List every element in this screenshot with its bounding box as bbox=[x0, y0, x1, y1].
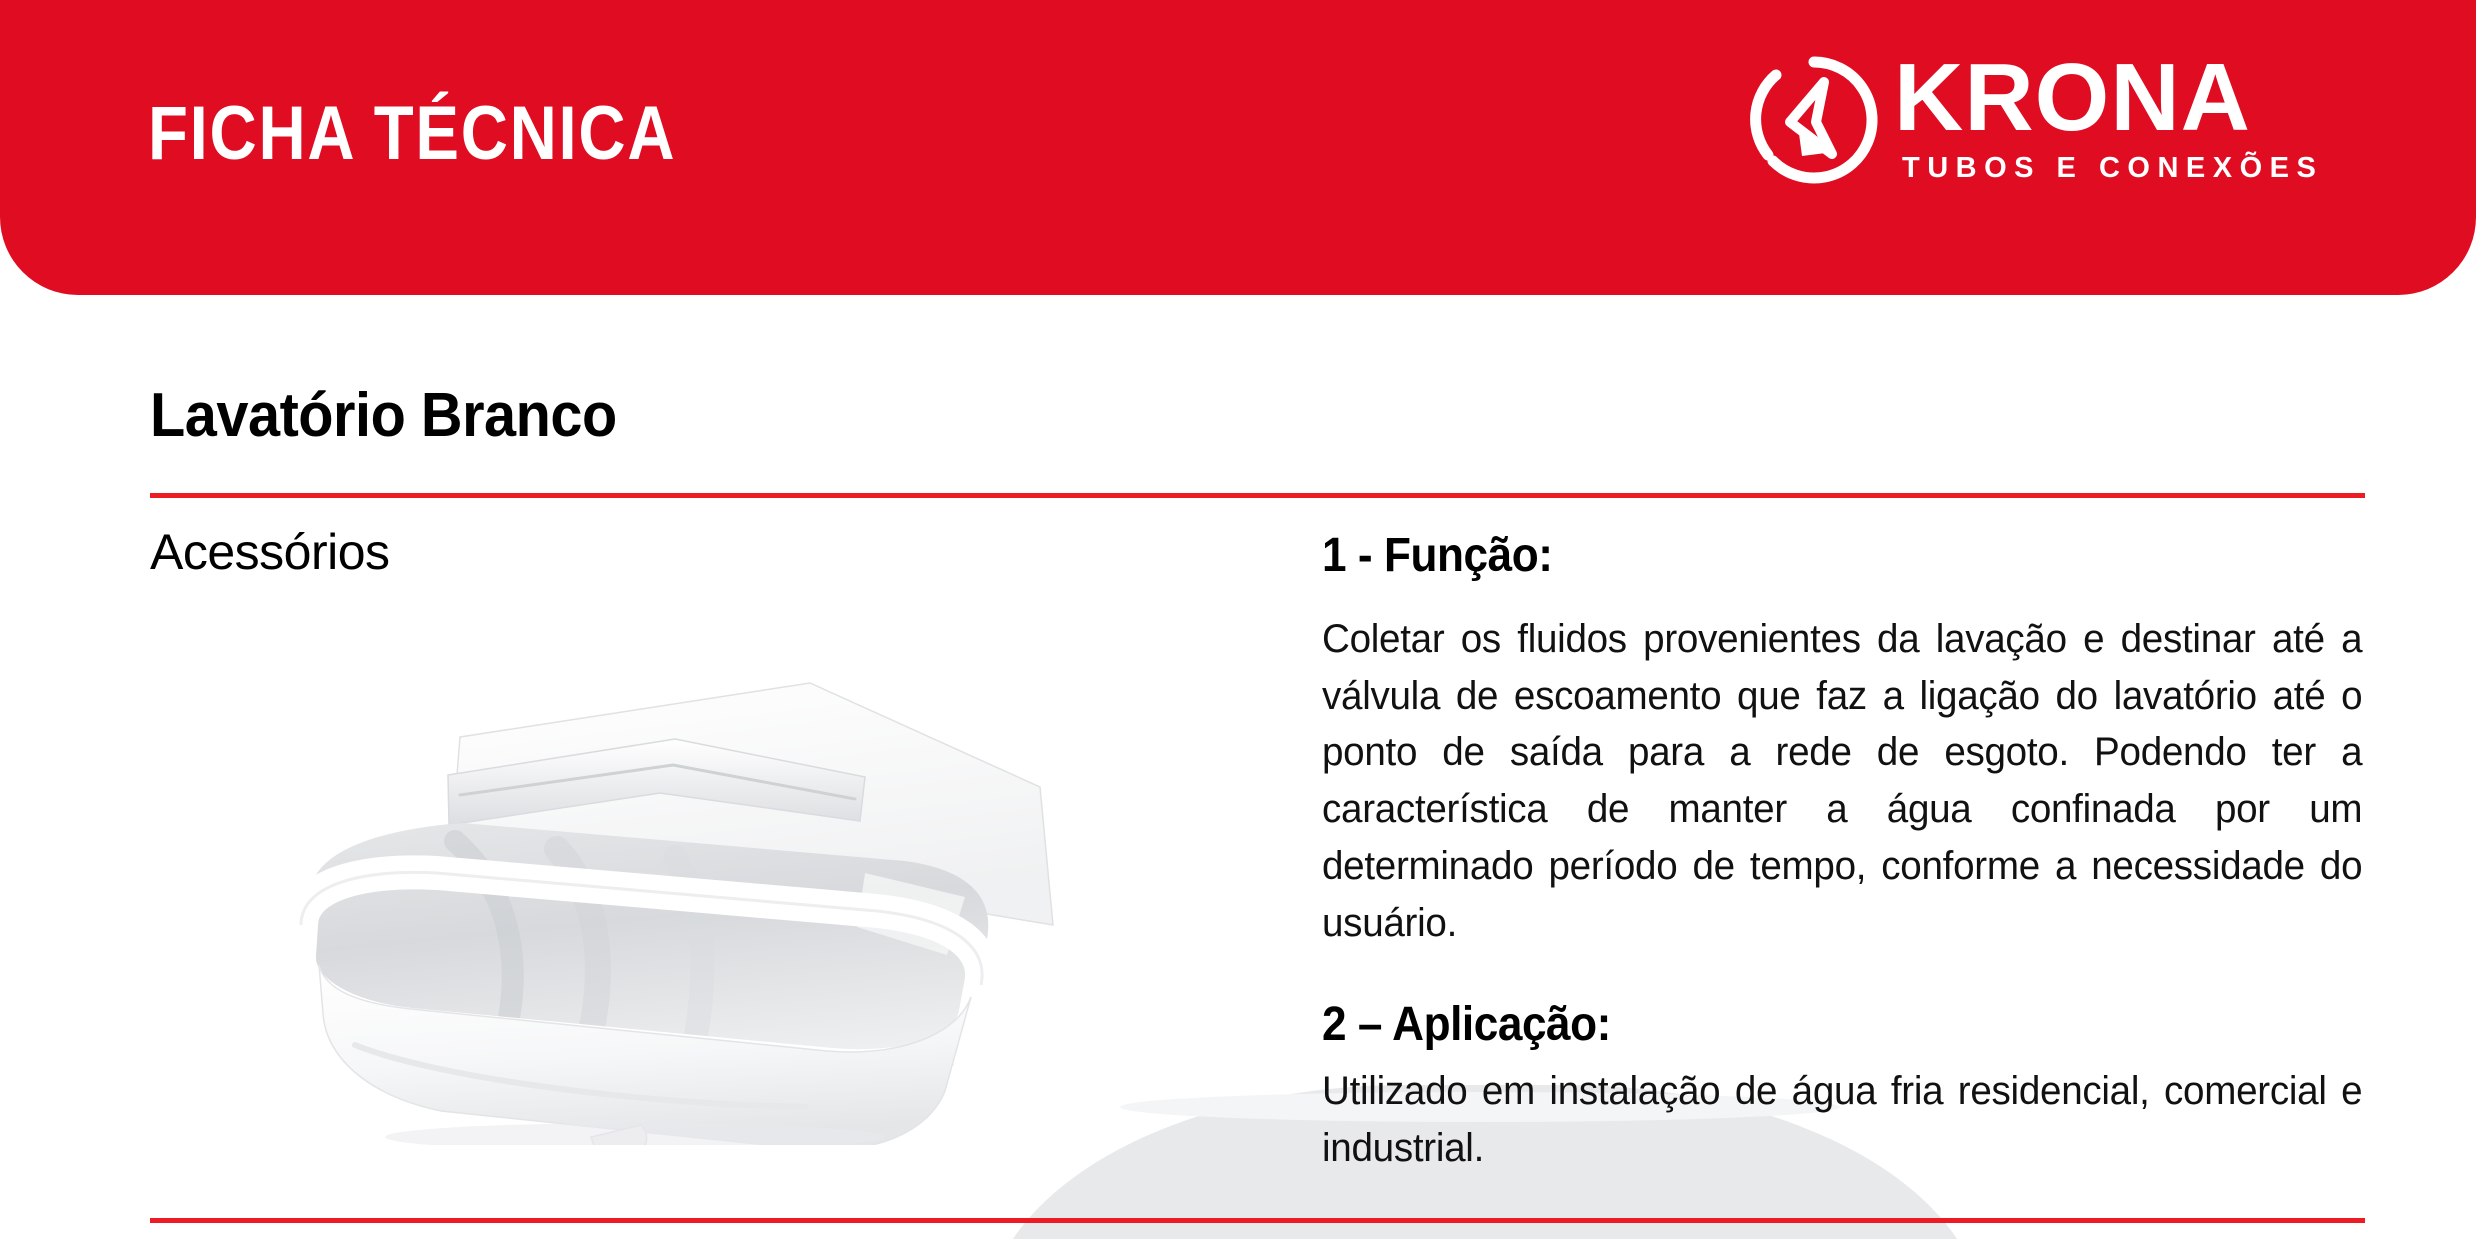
left-column: Acessórios bbox=[150, 515, 1290, 1215]
header-banner: FICHA TÉCNICA KRONA TUBOS E CONEXÕES bbox=[0, 0, 2476, 295]
product-image bbox=[205, 625, 1105, 1145]
krona-logo: KRONA TUBOS E CONEXÕES bbox=[1736, 48, 2436, 208]
right-column: 1 - Função: Coletar os fluidos provenien… bbox=[1322, 515, 2367, 1177]
section-heading-funcao: 1 - Função: bbox=[1322, 529, 2283, 583]
divider-top bbox=[150, 493, 2365, 498]
section-body-funcao: Coletar os fluidos provenientes da lavaç… bbox=[1322, 611, 2362, 952]
section-heading-aplicacao: 2 – Aplicação: bbox=[1322, 998, 2283, 1052]
krona-circular-emblem-icon bbox=[1746, 52, 1882, 188]
category-label: Acessórios bbox=[150, 527, 390, 577]
product-title: Lavatório Branco bbox=[150, 385, 617, 447]
logo-wordmark: KRONA bbox=[1894, 50, 2251, 146]
page-title: FICHA TÉCNICA bbox=[148, 96, 676, 172]
section-body-aplicacao: Utilizado em instalação de água fria res… bbox=[1322, 1063, 2362, 1177]
logo-tagline: TUBOS E CONEXÕES bbox=[1902, 154, 2323, 183]
datasheet-page: FICHA TÉCNICA KRONA TUBOS E CONEXÕES Lav… bbox=[0, 0, 2476, 1239]
divider-bottom bbox=[150, 1218, 2365, 1223]
